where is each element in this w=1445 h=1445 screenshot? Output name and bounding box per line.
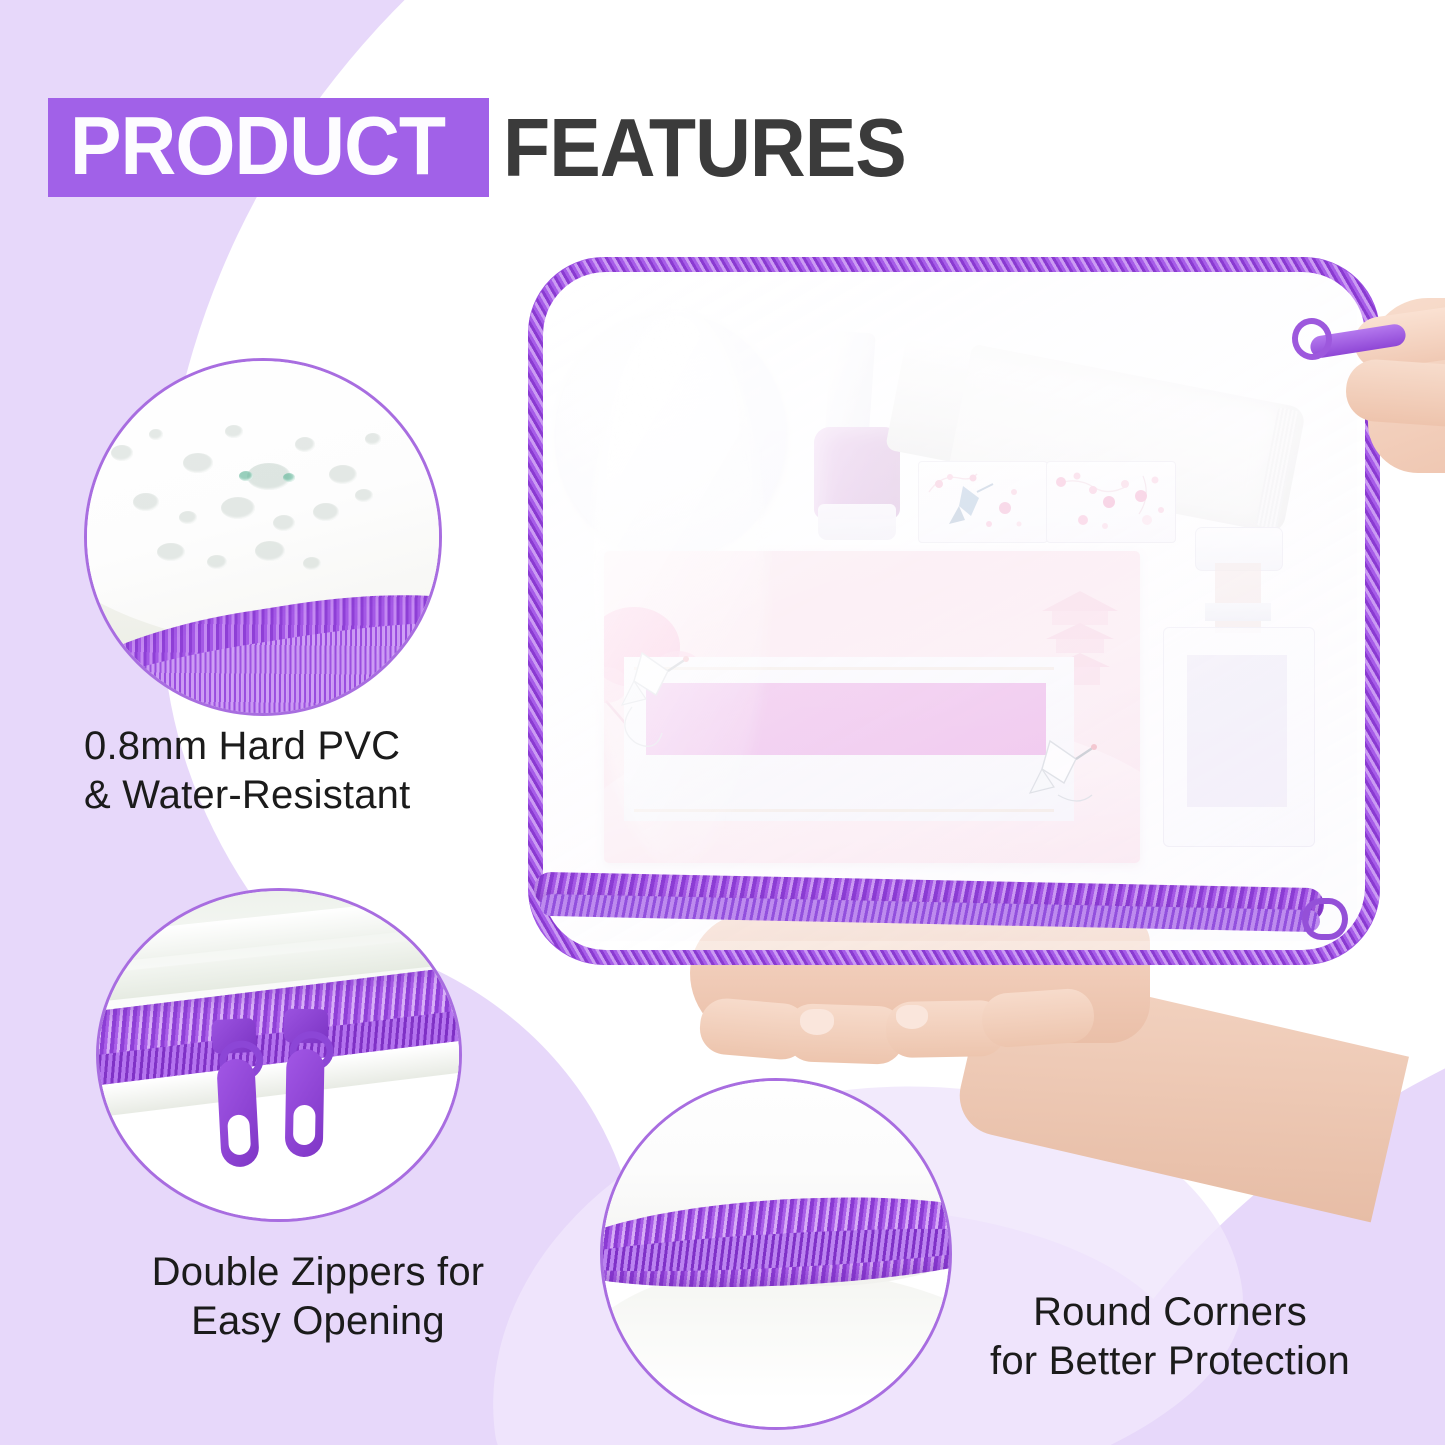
feature-caption-corner: Round Corners for Better Protection xyxy=(960,1288,1380,1386)
title-word-features: FEATURES xyxy=(503,106,906,189)
index-finger xyxy=(1344,358,1445,429)
bottom-zipper-pull-icon[interactable] xyxy=(1302,898,1348,940)
caption-line-1: Double Zippers for xyxy=(118,1248,518,1297)
caption-line-1: Round Corners xyxy=(960,1288,1380,1337)
caption-line-2: Easy Opening xyxy=(118,1297,518,1346)
feature-circle-zipper xyxy=(96,888,462,1222)
zipper-pulling-hand xyxy=(1338,290,1445,480)
title-highlight-block: PRODUCT xyxy=(48,98,489,197)
corner-lower-shell xyxy=(603,1267,949,1427)
caption-line-2: for Better Protection xyxy=(960,1337,1380,1386)
pvc-photo xyxy=(87,361,439,713)
zipper-pull-left-icon[interactable] xyxy=(209,1018,263,1170)
finger xyxy=(980,987,1095,1049)
fingernail xyxy=(896,1005,928,1029)
infographic-canvas: PRODUCT FEATURES xyxy=(0,0,1445,1445)
feature-caption-zipper: Double Zippers for Easy Opening xyxy=(118,1248,518,1346)
caption-line-2: & Water-Resistant xyxy=(84,771,524,820)
page-title: PRODUCT FEATURES xyxy=(48,98,937,197)
product-image xyxy=(520,255,1380,955)
title-plain-block: FEATURES xyxy=(489,98,936,197)
zipper-pull-right-icon[interactable] xyxy=(280,1009,329,1160)
bag-bottom-zipper xyxy=(534,872,1334,934)
fingernail xyxy=(800,1009,834,1035)
bag-transparent-panel xyxy=(548,277,1328,907)
caption-line-1: 0.8mm Hard PVC xyxy=(84,722,524,771)
zipper-photo xyxy=(99,891,459,1219)
zipper-pull-hole xyxy=(293,1105,316,1145)
feature-circle-pvc xyxy=(84,358,442,716)
title-word-product: PRODUCT xyxy=(70,104,445,187)
feature-caption-pvc: 0.8mm Hard PVC & Water-Resistant xyxy=(84,722,524,820)
bag-gloss-highlight xyxy=(588,307,768,867)
zipper-pull-hole xyxy=(227,1114,251,1155)
water-droplets-icon xyxy=(97,411,427,601)
